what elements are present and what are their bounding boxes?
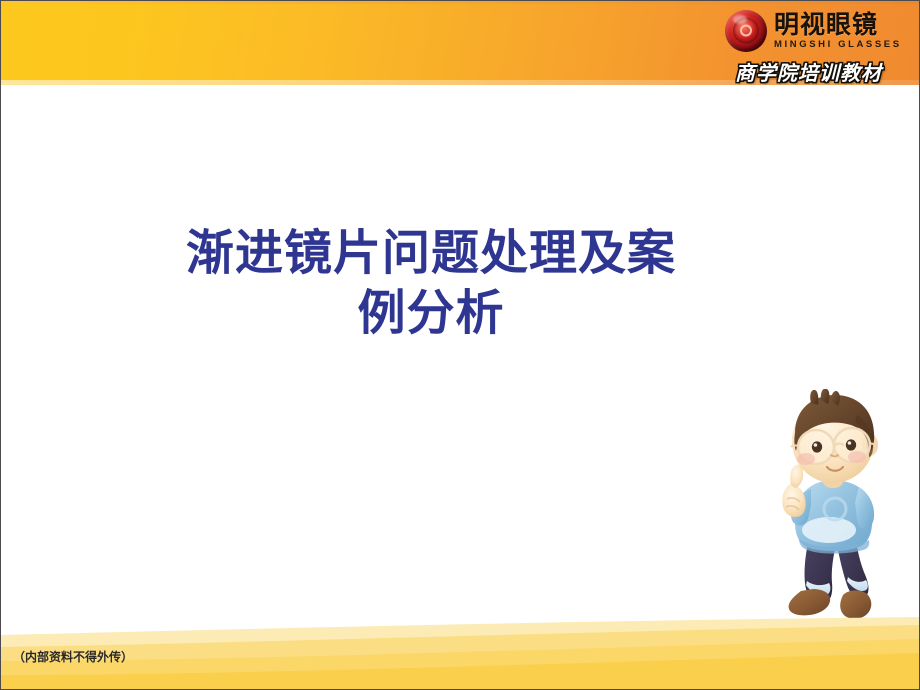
footer-hill-band: （内部资料不得外传）: [1, 617, 920, 689]
training-material-banner: 商学院培训教材: [735, 57, 882, 86]
mascot-boy-with-glasses-thumbs-up: [773, 389, 901, 627]
slide-title-line-2: 例分析: [121, 283, 741, 343]
emblem-highlight: [733, 15, 747, 24]
slide-header-band: 明视眼镜 MINGSHI GLASSES 商学院培训教材: [1, 1, 920, 85]
brand-name-en: MINGSHI GLASSES: [774, 40, 902, 50]
mingshi-seal-emblem-icon: [725, 10, 767, 52]
header-divider: [1, 85, 920, 87]
brand-logo-row: 明视眼镜 MINGSHI GLASSES: [725, 10, 902, 52]
brand-name-cn: 明视眼镜: [774, 12, 902, 37]
slide-title: 渐进镜片问题处理及案 例分析: [121, 223, 741, 344]
brand-logo-block: 明视眼镜 MINGSHI GLASSES 商学院培训教材: [725, 7, 907, 83]
brand-text-wrap: 明视眼镜 MINGSHI GLASSES: [774, 12, 902, 50]
presentation-slide: 明视眼镜 MINGSHI GLASSES 商学院培训教材 渐进镜片问题处理及案 …: [0, 0, 920, 690]
slide-title-line-1: 渐进镜片问题处理及案: [121, 223, 741, 283]
header-top-highlight: [1, 1, 920, 4]
confidential-note: （内部资料不得外传）: [13, 648, 133, 665]
